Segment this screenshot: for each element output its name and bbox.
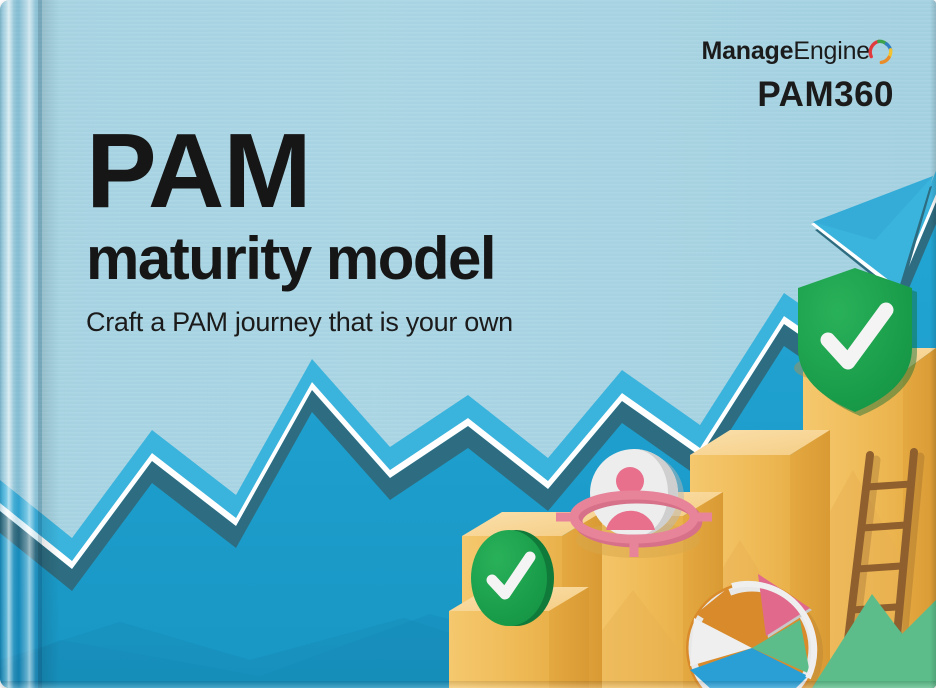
coin-check-small [471,530,554,626]
page-title: PAM [86,119,311,223]
manageengine-wordmark: ManageEngine [701,38,894,71]
product-name: PAM360 [701,76,894,114]
brand-logo: ManageEngine PAM360 [701,38,894,114]
brand-engine: Engine [793,37,870,65]
manageengine-swirl-icon [867,38,894,71]
brand-manage: Manage [701,37,793,65]
book-cover: ManageEngine PAM360 PAM maturity model [0,0,936,688]
tagline: Craft a PAM journey that is your own [86,305,513,339]
page-subtitle: maturity model [86,228,495,290]
book-body: ManageEngine PAM360 PAM maturity model [0,0,936,688]
